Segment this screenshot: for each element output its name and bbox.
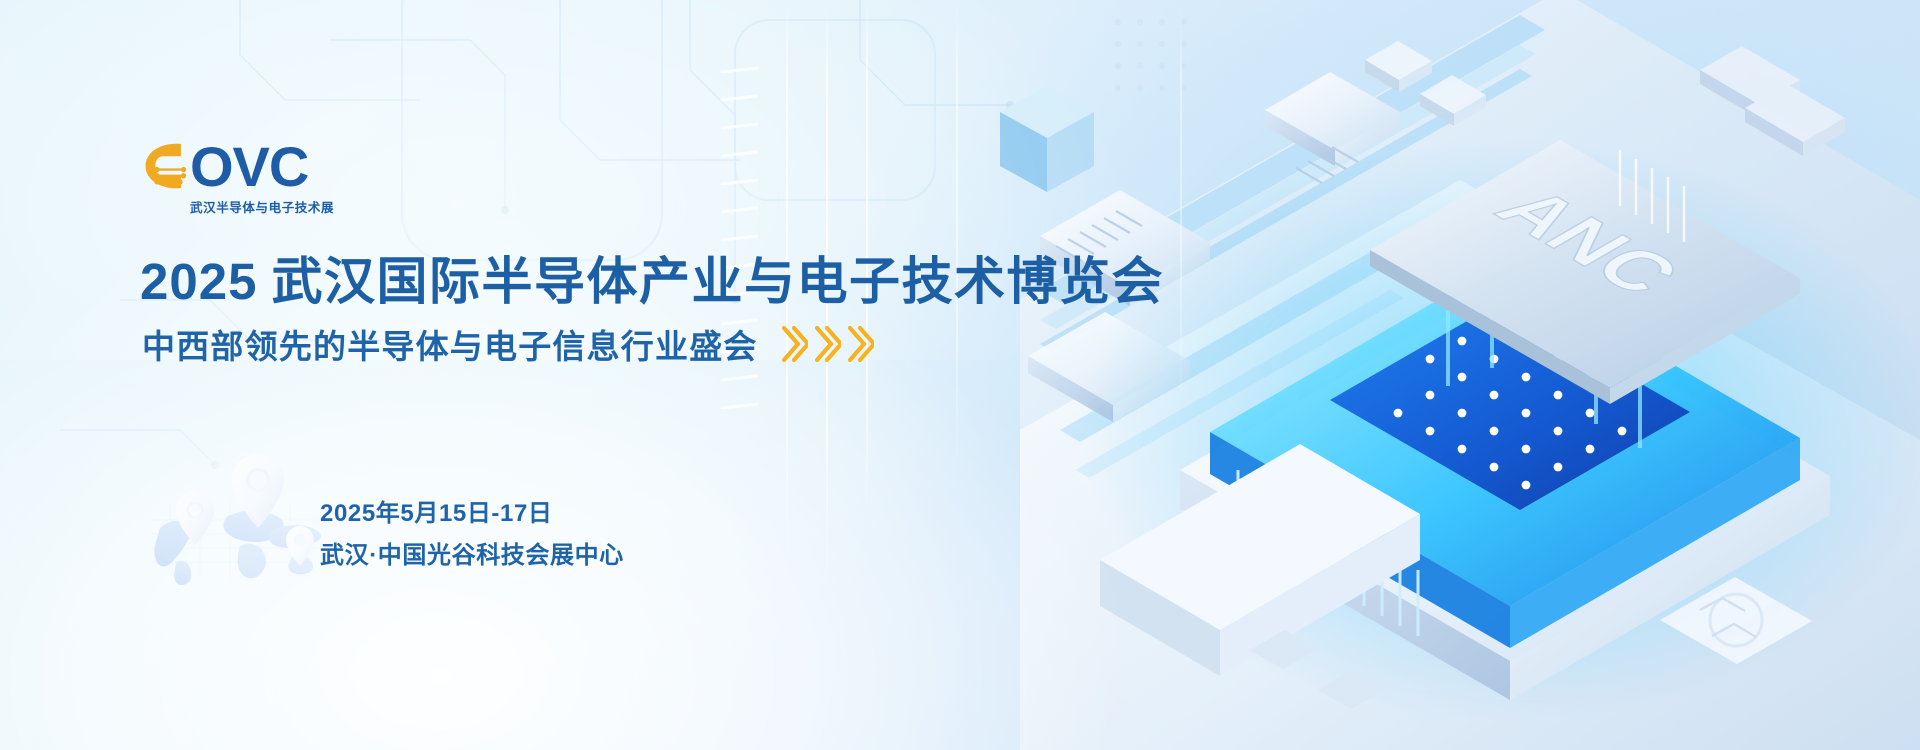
page-title: 2025武汉国际半导体产业与电子技术博览会 <box>140 240 1164 314</box>
banner-content: OVC 武汉半导体与电子技术展 2025武汉国际半导体产业与电子技术博览会 中西… <box>0 0 1100 750</box>
vertical-light-bar <box>1180 0 1182 420</box>
heatsink-fins <box>1238 470 1418 636</box>
event-meta: 2025年5月15日-17日 武汉·中国光谷科技会展中心 <box>320 493 624 577</box>
double-chevron-right-icon <box>782 325 808 363</box>
main-chip-assembly: ANC <box>1080 140 1920 720</box>
ovc-logo-wordmark: OVC <box>190 140 334 193</box>
title-year: 2025 <box>140 253 257 310</box>
board-components-foreground <box>1100 444 1812 709</box>
title-text: 武汉国际半导体产业与电子技术博览会 <box>271 253 1164 310</box>
ovc-logo-tagline: 武汉半导体与电子技术展 <box>190 197 334 216</box>
page-subtitle: 中西部领先的半导体与电子信息行业盛会 <box>142 320 758 368</box>
double-chevron-right-icon <box>848 325 874 363</box>
chevron-group <box>782 325 881 363</box>
ovc-logo[interactable]: OVC 武汉半导体与电子技术展 <box>142 140 334 216</box>
double-chevron-right-icon <box>815 325 841 363</box>
svg-text:ANC: ANC <box>1477 177 1700 305</box>
ovc-circuit-mark-icon <box>142 140 188 192</box>
event-date: 2025年5月15日-17日 <box>320 493 624 535</box>
event-banner: ANC <box>0 0 1920 750</box>
subtitle-row: 中西部领先的半导体与电子信息行业盛会 <box>142 320 881 368</box>
die-led-dots <box>1394 337 1627 490</box>
event-venue: 武汉·中国光谷科技会展中心 <box>320 535 624 577</box>
chip-label: ANC <box>1477 177 1700 305</box>
light-pillars <box>1448 282 1640 448</box>
isometric-circuit-board: ANC <box>1020 0 1920 750</box>
board-components-pale <box>1028 41 1845 422</box>
dot-grid-decor <box>1115 19 1187 91</box>
